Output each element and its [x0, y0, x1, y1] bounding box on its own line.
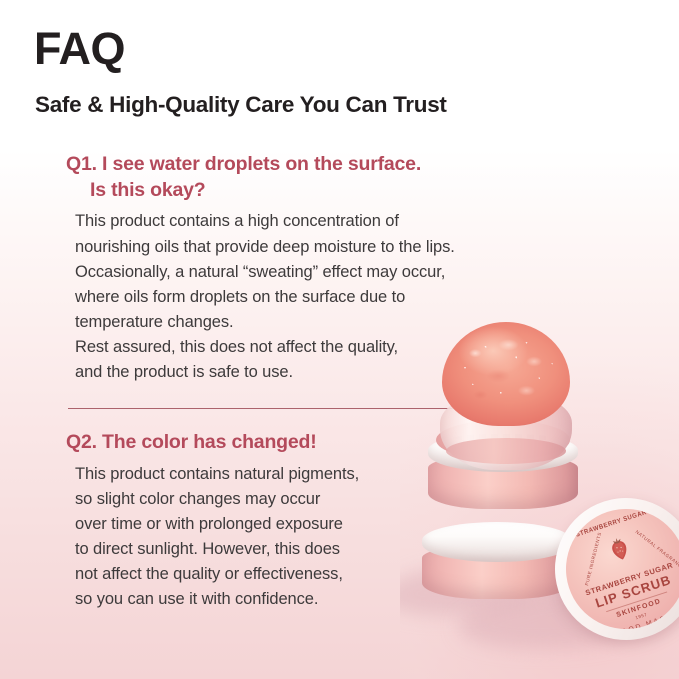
- faq-item-q1: Q1. I see water droplets on the surface.…: [66, 152, 486, 385]
- answer-1-line: temperature changes.: [75, 310, 486, 335]
- answer-1-line: Rest assured, this does not affect the q…: [75, 335, 486, 360]
- page-title: FAQ: [34, 26, 125, 71]
- answer-1-line: nourishing oils that provide deep moistu…: [75, 235, 486, 260]
- jar-open-with-scrub: [440, 322, 572, 470]
- question-1-heading: Q1. I see water droplets on the surface.…: [66, 152, 486, 203]
- answer-1-body: This product contains a high concentrati…: [66, 209, 486, 385]
- product-photo: STRAWBERRY SUGAR PURE INGREDIENTS: [400, 300, 679, 679]
- lip-scrub-dome: [442, 322, 570, 426]
- question-2-heading: Q2. The color has changed!: [66, 430, 466, 456]
- answer-2-line: to direct sunlight. However, this does: [75, 537, 466, 562]
- answer-2-line: so you can use it with confidence.: [75, 587, 466, 612]
- answer-1-line: and the product is safe to use.: [75, 360, 486, 385]
- answer-2-line: This product contains natural pigments,: [75, 462, 466, 487]
- answer-2-line: over time or with prolonged exposure: [75, 512, 466, 537]
- lid-side-text-left: PURE INGREDIENTS: [584, 546, 599, 586]
- question-1-line-1: Q1. I see water droplets on the surface.: [66, 153, 421, 175]
- answer-1-line: where oils form droplets on the surface …: [75, 285, 486, 310]
- answer-2-line: not affect the quality or effectiveness,: [75, 562, 466, 587]
- answer-2-line: so slight color changes may occur: [75, 487, 466, 512]
- section-divider: [68, 408, 470, 409]
- faq-item-q2: Q2. The color has changed! This product …: [66, 430, 466, 612]
- strawberry-icon: [601, 530, 640, 573]
- lid-side-text-right: NATURAL FRAGRANCE: [635, 529, 671, 559]
- question-2-line-1: Q2. The color has changed!: [66, 431, 317, 453]
- answer-1-line: Occasionally, a natural “sweating” effec…: [75, 260, 486, 285]
- answer-2-body: This product contains natural pigments, …: [66, 462, 466, 612]
- page-subtitle: Safe & High-Quality Care You Can Trust: [35, 92, 447, 118]
- faq-page: STRAWBERRY SUGAR PURE INGREDIENTS: [0, 0, 679, 679]
- question-1-line-2: Is this okay?: [66, 178, 486, 204]
- answer-1-line: This product contains a high concentrati…: [75, 209, 486, 234]
